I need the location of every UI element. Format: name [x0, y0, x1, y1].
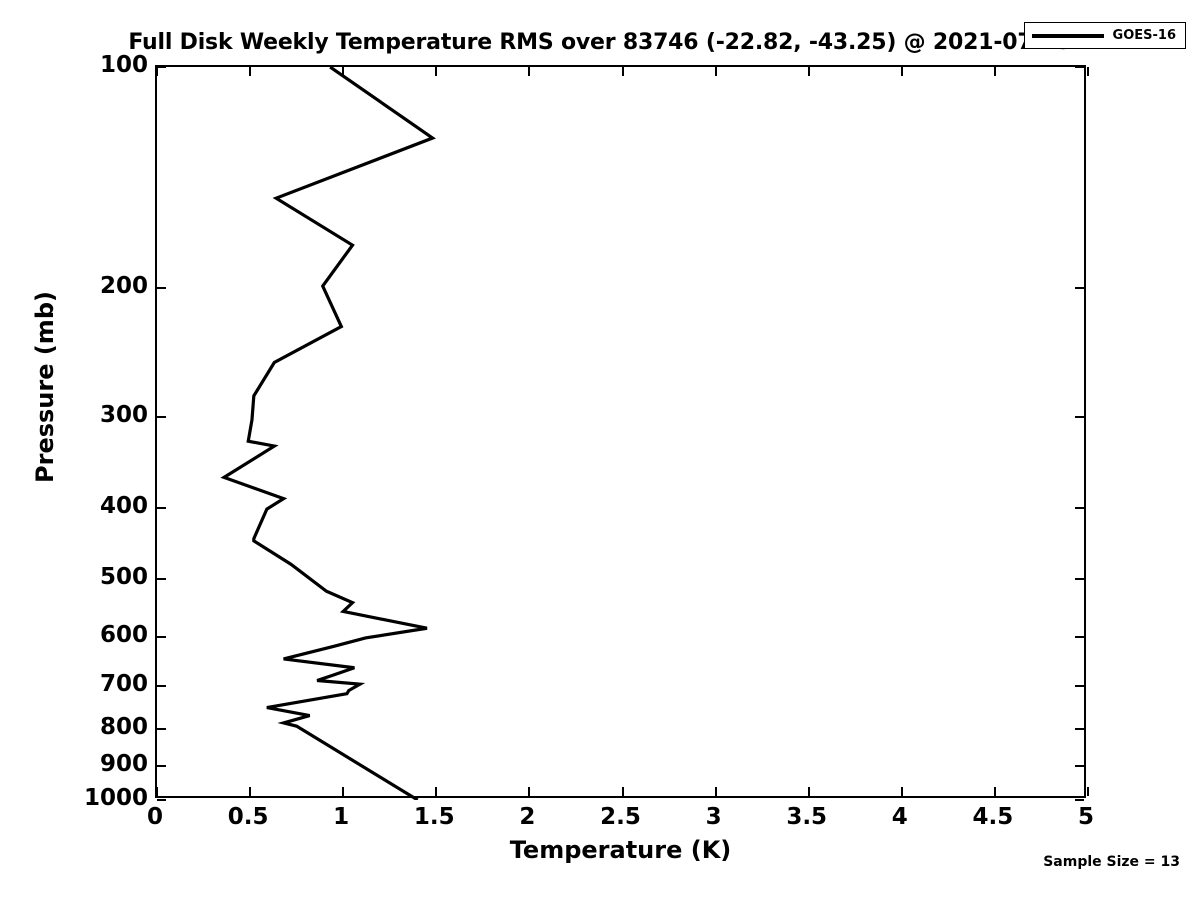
y-tick-label-700: 700 [100, 671, 148, 697]
x-tick-top-3.5 [808, 67, 810, 76]
y-tick-600 [157, 636, 166, 638]
x-tick-label-3.5: 3.5 [786, 804, 827, 830]
y-tick-label-400: 400 [100, 493, 148, 519]
y-tick-right-500 [1075, 578, 1084, 580]
y-axis-title: Pressure (mb) [31, 237, 59, 537]
y-tick-label-100: 100 [100, 52, 148, 78]
y-tick-100 [157, 66, 166, 68]
series-goes-16-line [157, 67, 1088, 800]
y-tick-label-1000: 1000 [84, 785, 148, 811]
y-tick-right-800 [1075, 728, 1084, 730]
x-tick-label-5: 5 [1078, 804, 1094, 830]
x-tick-label-0: 0 [147, 804, 163, 830]
x-tick-top-1 [342, 67, 344, 76]
x-axis-title: Temperature (K) [155, 836, 1086, 864]
x-tick-4.5 [994, 787, 996, 796]
x-tick-label-4: 4 [892, 804, 908, 830]
y-tick-right-300 [1075, 416, 1084, 418]
x-tick-label-1.5: 1.5 [414, 804, 455, 830]
plot-area [155, 65, 1086, 798]
x-tick-1.5 [435, 787, 437, 796]
x-tick-label-2: 2 [519, 804, 535, 830]
y-tick-400 [157, 507, 166, 509]
y-tick-label-800: 800 [100, 714, 148, 740]
x-tick-label-4.5: 4.5 [973, 804, 1014, 830]
x-tick-4 [901, 787, 903, 796]
y-tick-label-900: 900 [100, 751, 148, 777]
x-tick-0.5 [249, 787, 251, 796]
y-tick-right-200 [1075, 287, 1084, 289]
y-tick-1000 [157, 799, 166, 801]
x-tick-3.5 [808, 787, 810, 796]
y-tick-200 [157, 287, 166, 289]
x-tick-label-0.5: 0.5 [228, 804, 269, 830]
x-tick-top-0 [156, 67, 158, 76]
legend-swatch-goes-16 [1032, 34, 1104, 38]
y-tick-500 [157, 578, 166, 580]
y-tick-label-600: 600 [100, 622, 148, 648]
x-tick-top-4.5 [994, 67, 996, 76]
y-tick-800 [157, 728, 166, 730]
x-tick-top-2 [528, 67, 530, 76]
legend-label-goes-16: GOES-16 [1113, 28, 1176, 43]
sample-size-annotation: Sample Size = 13 [1043, 854, 1180, 870]
y-tick-right-400 [1075, 507, 1084, 509]
x-tick-top-3 [715, 67, 717, 76]
y-tick-right-700 [1075, 685, 1084, 687]
x-tick-top-0.5 [249, 67, 251, 76]
y-tick-900 [157, 765, 166, 767]
x-tick-2 [528, 787, 530, 796]
x-tick-label-1: 1 [333, 804, 349, 830]
x-tick-top-1.5 [435, 67, 437, 76]
x-tick-2.5 [622, 787, 624, 796]
y-tick-right-100 [1075, 66, 1084, 68]
x-tick-top-2.5 [622, 67, 624, 76]
y-tick-right-600 [1075, 636, 1084, 638]
y-tick-700 [157, 685, 166, 687]
y-tick-right-1000 [1075, 799, 1084, 801]
y-tick-label-300: 300 [100, 402, 148, 428]
y-tick-label-500: 500 [100, 564, 148, 590]
x-tick-top-4 [901, 67, 903, 76]
y-tick-label-200: 200 [100, 273, 148, 299]
x-tick-top-5 [1087, 67, 1089, 76]
x-tick-5 [1087, 787, 1089, 796]
x-tick-1 [342, 787, 344, 796]
x-tick-label-2.5: 2.5 [600, 804, 641, 830]
legend: GOES-16 [1024, 22, 1186, 49]
y-tick-300 [157, 416, 166, 418]
chart-title: Full Disk Weekly Temperature RMS over 83… [0, 30, 1200, 55]
y-tick-right-900 [1075, 765, 1084, 767]
chart-canvas: Full Disk Weekly Temperature RMS over 83… [0, 0, 1200, 900]
x-tick-0 [156, 787, 158, 796]
x-tick-3 [715, 787, 717, 796]
x-tick-label-3: 3 [706, 804, 722, 830]
